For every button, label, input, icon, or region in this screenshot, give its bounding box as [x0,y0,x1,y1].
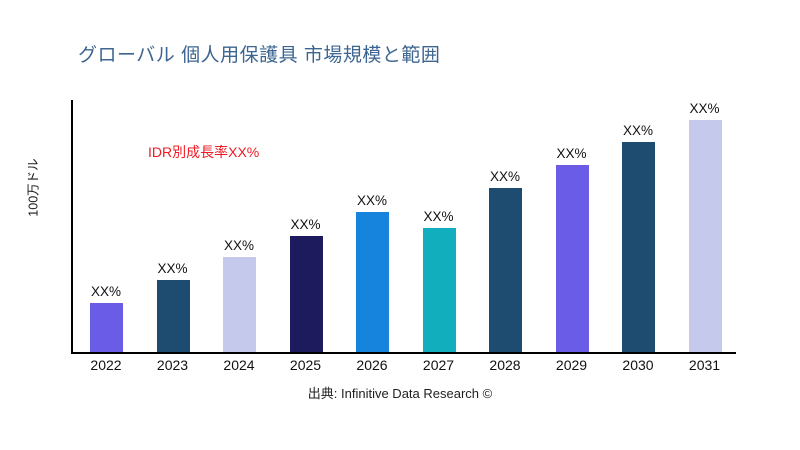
bar[interactable] [689,120,722,352]
bar[interactable] [423,228,456,352]
x-tick-label: 2030 [603,357,673,373]
chart-container: グローバル 個人用保護具 市場規模と範囲 100万ドル IDR別成長率XX% X… [0,0,800,450]
bar-value-label: XX% [537,146,607,161]
x-tick-label: 2027 [404,357,474,373]
bar-group: XX% [603,98,673,352]
x-tick-label: 2031 [670,357,740,373]
source-note: 出典: Infinitive Data Research © [0,383,800,402]
bar-value-label: XX% [603,123,673,138]
x-tick-label: 2026 [337,357,407,373]
bar-group: XX% [71,98,141,352]
bar[interactable] [489,188,522,352]
x-tick-label: 2024 [204,357,274,373]
x-tick-label: 2023 [138,357,208,373]
bar-group: XX% [204,98,274,352]
bar-group: XX% [138,98,208,352]
bar-value-label: XX% [138,261,208,276]
bar-group: XX% [271,98,341,352]
bar-value-label: XX% [204,238,274,253]
bar[interactable] [290,236,323,352]
bar[interactable] [356,212,389,352]
x-tick-label: 2022 [71,357,141,373]
bar-value-label: XX% [337,193,407,208]
bar-group: XX% [537,98,607,352]
bar[interactable] [622,142,655,352]
x-tick-label: 2025 [271,357,341,373]
bar-group: XX% [337,98,407,352]
bar[interactable] [556,165,589,352]
x-tick-label: 2029 [537,357,607,373]
bar[interactable] [157,280,190,352]
bar-value-label: XX% [71,284,141,299]
bar-group: XX% [404,98,474,352]
bar-value-label: XX% [670,101,740,116]
bar-value-label: XX% [404,209,474,224]
x-tick-label: 2028 [470,357,540,373]
bar-group: XX% [670,98,740,352]
bar-group: XX% [470,98,540,352]
bar-value-label: XX% [271,217,341,232]
bar[interactable] [90,303,123,352]
bar-value-label: XX% [470,169,540,184]
bar[interactable] [223,257,256,352]
